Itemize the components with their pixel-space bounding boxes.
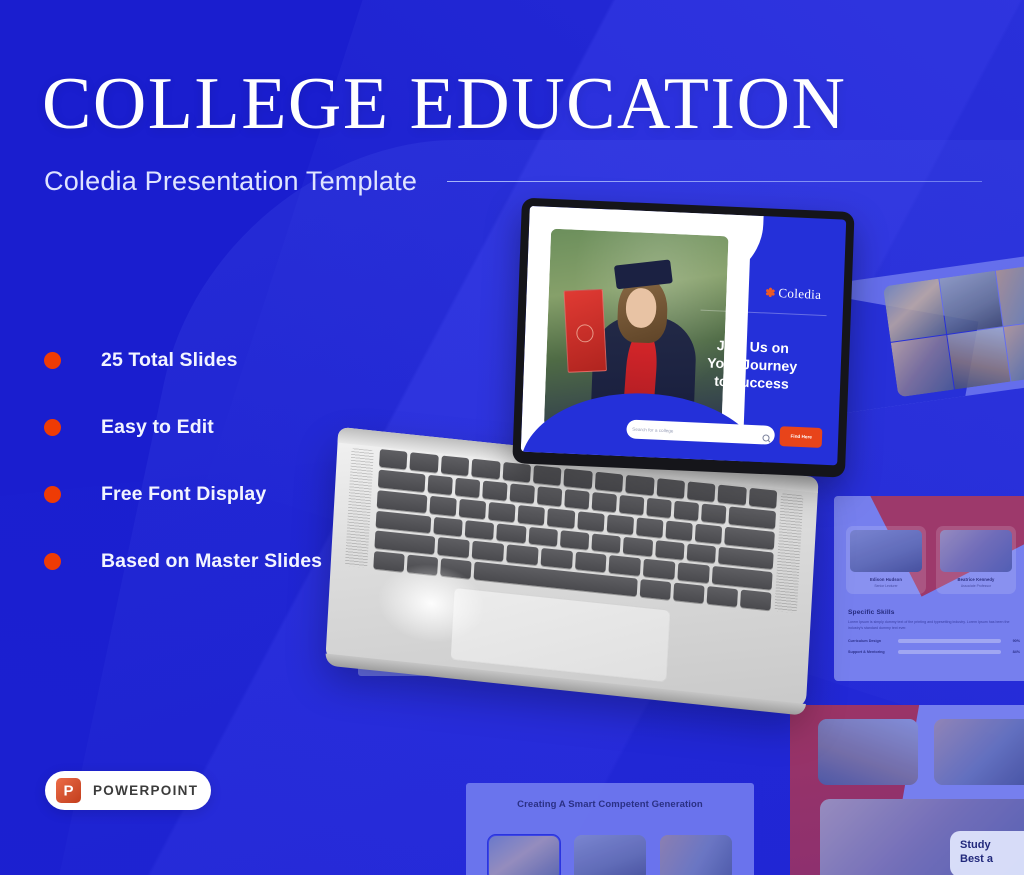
bullet-dot-icon	[44, 486, 61, 503]
background-slide-bottom-right: Study Best a	[790, 705, 1024, 875]
photo	[934, 719, 1024, 785]
feature-item: 25 Total Slides	[44, 338, 424, 382]
feature-label: Based on Master Slides	[101, 550, 322, 573]
coledia-logo: ✽ Coledia	[765, 285, 822, 303]
slide-headline: Join Us on Your Journey to Success	[678, 336, 826, 396]
speaker-grille-right	[774, 493, 803, 613]
subtitle-row: Coledia Presentation Template	[44, 166, 988, 197]
feature-list: 25 Total Slides Easy to Edit Free Font D…	[44, 338, 424, 584]
bottom-right-photo-row	[818, 719, 1024, 785]
search-icon	[763, 435, 770, 442]
powerpoint-badge-label: POWERPOINT	[93, 783, 198, 798]
diploma-certificate	[563, 289, 606, 373]
feature-label: Free Font Display	[101, 483, 266, 506]
graduation-cap	[614, 259, 673, 289]
poster-canvas: Edison Hudson Senior Lecturer Beatrice K…	[0, 0, 1024, 875]
photo-large: Study Best a	[820, 799, 1024, 875]
search-placeholder: Search for a college	[632, 427, 673, 434]
powerpoint-icon	[56, 778, 81, 803]
powerpoint-badge[interactable]: POWERPOINT	[45, 771, 211, 810]
feature-label: 25 Total Slides	[101, 349, 238, 372]
diploma-seal	[576, 324, 594, 342]
laptop-screen: ✽ Coledia Join Us on Your Journey to Suc…	[521, 206, 846, 466]
skill-value: 84%	[1006, 650, 1020, 654]
feature-item: Based on Master Slides	[44, 539, 424, 583]
subtitle-divider	[447, 181, 982, 182]
thumbnail	[660, 835, 732, 875]
study-chip-line-1: Study	[960, 839, 1024, 851]
bottom-center-title: Creating A Smart Competent Generation	[466, 799, 754, 812]
coledia-logo-text: Coledia	[778, 286, 821, 304]
coledia-logo-mark: ✽	[765, 286, 776, 301]
thumbnail	[488, 835, 560, 875]
bullet-dot-icon	[44, 419, 61, 436]
skill-value: 90%	[1006, 639, 1020, 643]
study-chip-line-2: Best a	[960, 853, 1024, 865]
page-title: COLLEGE EDUCATION	[42, 66, 992, 142]
bullet-dot-icon	[44, 553, 61, 570]
page-subtitle: Coledia Presentation Template	[44, 166, 417, 197]
bullet-dot-icon	[44, 352, 61, 369]
find-here-button[interactable]: Find Here	[780, 426, 823, 448]
background-slide-bottom-center: Creating A Smart Competent Generation	[466, 783, 754, 875]
feature-item: Easy to Edit	[44, 405, 424, 449]
thumbnail	[574, 835, 646, 875]
feature-item: Free Font Display	[44, 472, 424, 516]
study-chip: Study Best a	[950, 831, 1024, 875]
bottom-center-thumbnails	[488, 835, 734, 875]
laptop-trackpad[interactable]	[450, 587, 671, 682]
photo	[818, 719, 918, 785]
laptop-lid: ✽ Coledia Join Us on Your Journey to Suc…	[512, 198, 854, 478]
feature-label: Easy to Edit	[101, 416, 214, 439]
